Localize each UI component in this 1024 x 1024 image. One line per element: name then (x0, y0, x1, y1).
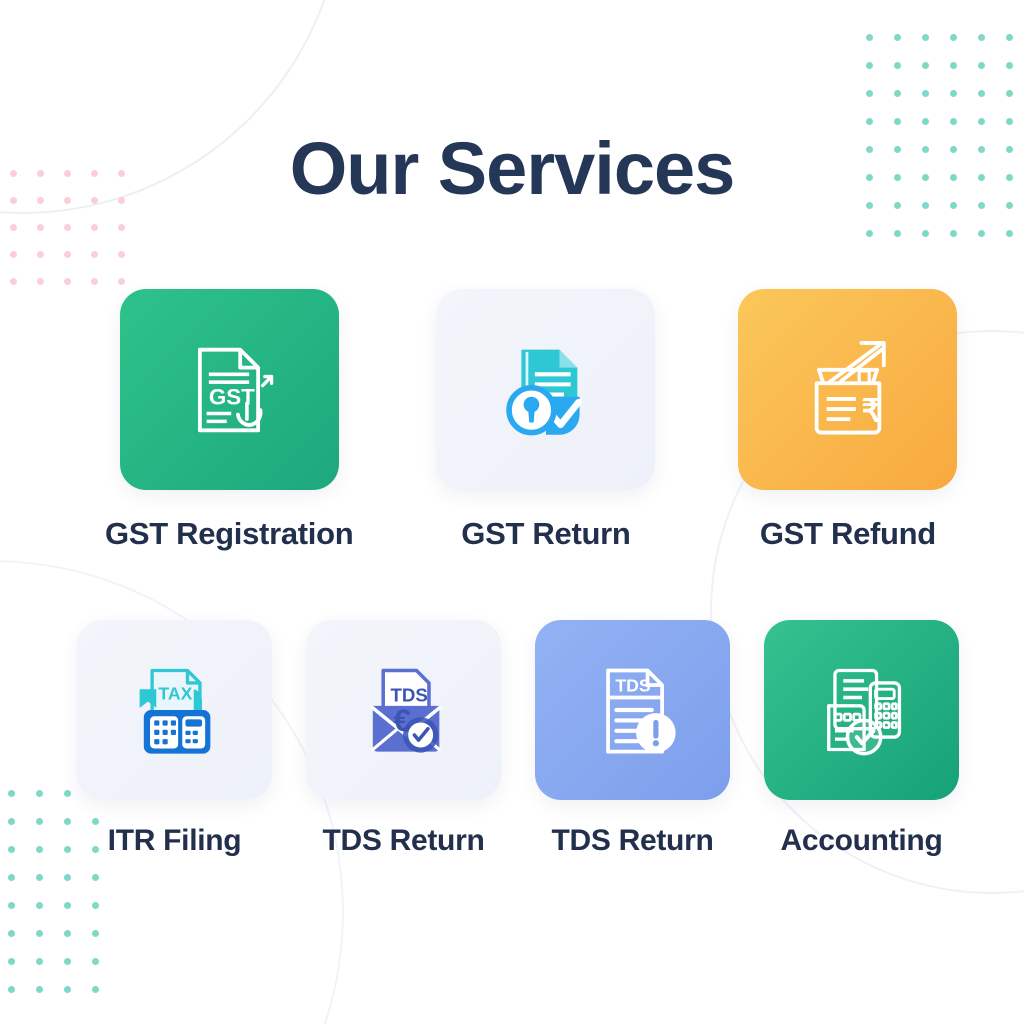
services-section: Our Services GSTGST RegistrationGST Retu… (0, 0, 1024, 1024)
decorative-dot (8, 846, 15, 853)
services-row-1: GSTGST RegistrationGST Return₹GST Refund (105, 289, 957, 552)
decorative-dot (894, 90, 901, 97)
decorative-dot (37, 224, 44, 231)
decorative-dot (92, 986, 99, 993)
decorative-dot (866, 90, 873, 97)
decorative-dot (950, 62, 957, 69)
decorative-dot (36, 818, 43, 825)
decorative-dot (894, 118, 901, 125)
document-shield-check-icon[interactable] (436, 289, 655, 490)
decorative-dot (1006, 34, 1013, 41)
decorative-dot (866, 118, 873, 125)
decorative-dot (922, 62, 929, 69)
decorative-dot (91, 224, 98, 231)
decorative-dot (8, 874, 15, 881)
decorative-dot (922, 34, 929, 41)
decorative-dot (64, 278, 71, 285)
decorative-dot (1006, 90, 1013, 97)
svg-text:TAX: TAX (158, 684, 192, 704)
service-card-accounting[interactable]: Accounting (764, 620, 959, 858)
tds-document-alert-icon[interactable]: TDS (535, 620, 730, 800)
decorative-dot (92, 930, 99, 937)
decorative-dot (64, 224, 71, 231)
decorative-dot (37, 278, 44, 285)
service-card-gst-return[interactable]: GST Return (436, 289, 655, 552)
ledger-calculator-check-icon[interactable] (764, 620, 959, 800)
decorative-dot (8, 790, 15, 797)
decorative-dot (118, 224, 125, 231)
decorative-dot (36, 846, 43, 853)
decorative-dot (118, 251, 125, 258)
services-row-2: TAXITR FilingTDS€TDS ReturnTDSTDS Return… (77, 620, 959, 858)
decorative-dot (92, 958, 99, 965)
decorative-dot (1006, 62, 1013, 69)
decorative-dot (978, 62, 985, 69)
decorative-dot (1006, 230, 1013, 237)
decorative-dot (894, 62, 901, 69)
service-card-tds-return[interactable]: TDSTDS Return (535, 620, 730, 858)
decorative-dot (978, 34, 985, 41)
decorative-dot (978, 230, 985, 237)
decorative-dot (64, 818, 71, 825)
service-label: TDS Return (322, 824, 484, 858)
service-card-gst-registration[interactable]: GSTGST Registration (105, 289, 353, 552)
cash-box-rupee-growth-icon[interactable]: ₹ (738, 289, 957, 490)
decorative-dot (36, 958, 43, 965)
decorative-dot (36, 930, 43, 937)
decorative-dot (894, 34, 901, 41)
decorative-dot (64, 930, 71, 937)
decorative-dot (36, 790, 43, 797)
tds-envelope-rupee-check-icon[interactable]: TDS€ (306, 620, 501, 800)
decorative-dot (36, 986, 43, 993)
decorative-dot (37, 251, 44, 258)
service-label: GST Refund (760, 516, 936, 552)
service-label: Accounting (781, 824, 943, 858)
decorative-dot (91, 278, 98, 285)
decorative-dot (922, 118, 929, 125)
decorative-dot (92, 902, 99, 909)
decorative-dot (866, 230, 873, 237)
service-card-tds-return[interactable]: TDS€TDS Return (306, 620, 501, 858)
decorative-dot (64, 902, 71, 909)
decorative-dot (8, 958, 15, 965)
decorative-dot (91, 251, 98, 258)
service-label: ITR Filing (108, 824, 242, 858)
decorative-dot (978, 90, 985, 97)
decorative-dot (36, 902, 43, 909)
decorative-dot (36, 874, 43, 881)
page-title: Our Services (0, 126, 1024, 211)
service-label: TDS Return (551, 824, 713, 858)
svg-text:₹: ₹ (861, 393, 881, 428)
tax-document-calculator-icon[interactable]: TAX (77, 620, 272, 800)
decorative-dot (118, 278, 125, 285)
svg-text:TDS: TDS (615, 675, 651, 695)
decorative-dot (922, 90, 929, 97)
decorative-dot (950, 230, 957, 237)
service-label: GST Return (461, 516, 630, 552)
decorative-dot (1006, 118, 1013, 125)
decorative-dot (64, 846, 71, 853)
decorative-dot (64, 986, 71, 993)
decorative-dot (8, 818, 15, 825)
decorative-dot (866, 62, 873, 69)
decorative-dot (978, 118, 985, 125)
decorative-dot (950, 118, 957, 125)
decorative-dot (8, 902, 15, 909)
decorative-dot (92, 874, 99, 881)
decorative-dot (950, 90, 957, 97)
service-card-gst-refund[interactable]: ₹GST Refund (738, 289, 957, 552)
decorative-dot (10, 224, 17, 231)
service-card-itr-filing[interactable]: TAXITR Filing (77, 620, 272, 858)
decorative-dot (8, 930, 15, 937)
decorative-dot (922, 230, 929, 237)
decorative-dot (64, 958, 71, 965)
decorative-dot (64, 874, 71, 881)
decorative-dot (64, 251, 71, 258)
decorative-dot (866, 34, 873, 41)
decorative-dot (894, 230, 901, 237)
decorative-dot (10, 278, 17, 285)
decorative-dot (8, 986, 15, 993)
decorative-dot (64, 790, 71, 797)
decorative-dot (10, 251, 17, 258)
gst-document-download-icon[interactable]: GST (120, 289, 339, 490)
decorative-dot (950, 34, 957, 41)
service-label: GST Registration (105, 516, 353, 552)
